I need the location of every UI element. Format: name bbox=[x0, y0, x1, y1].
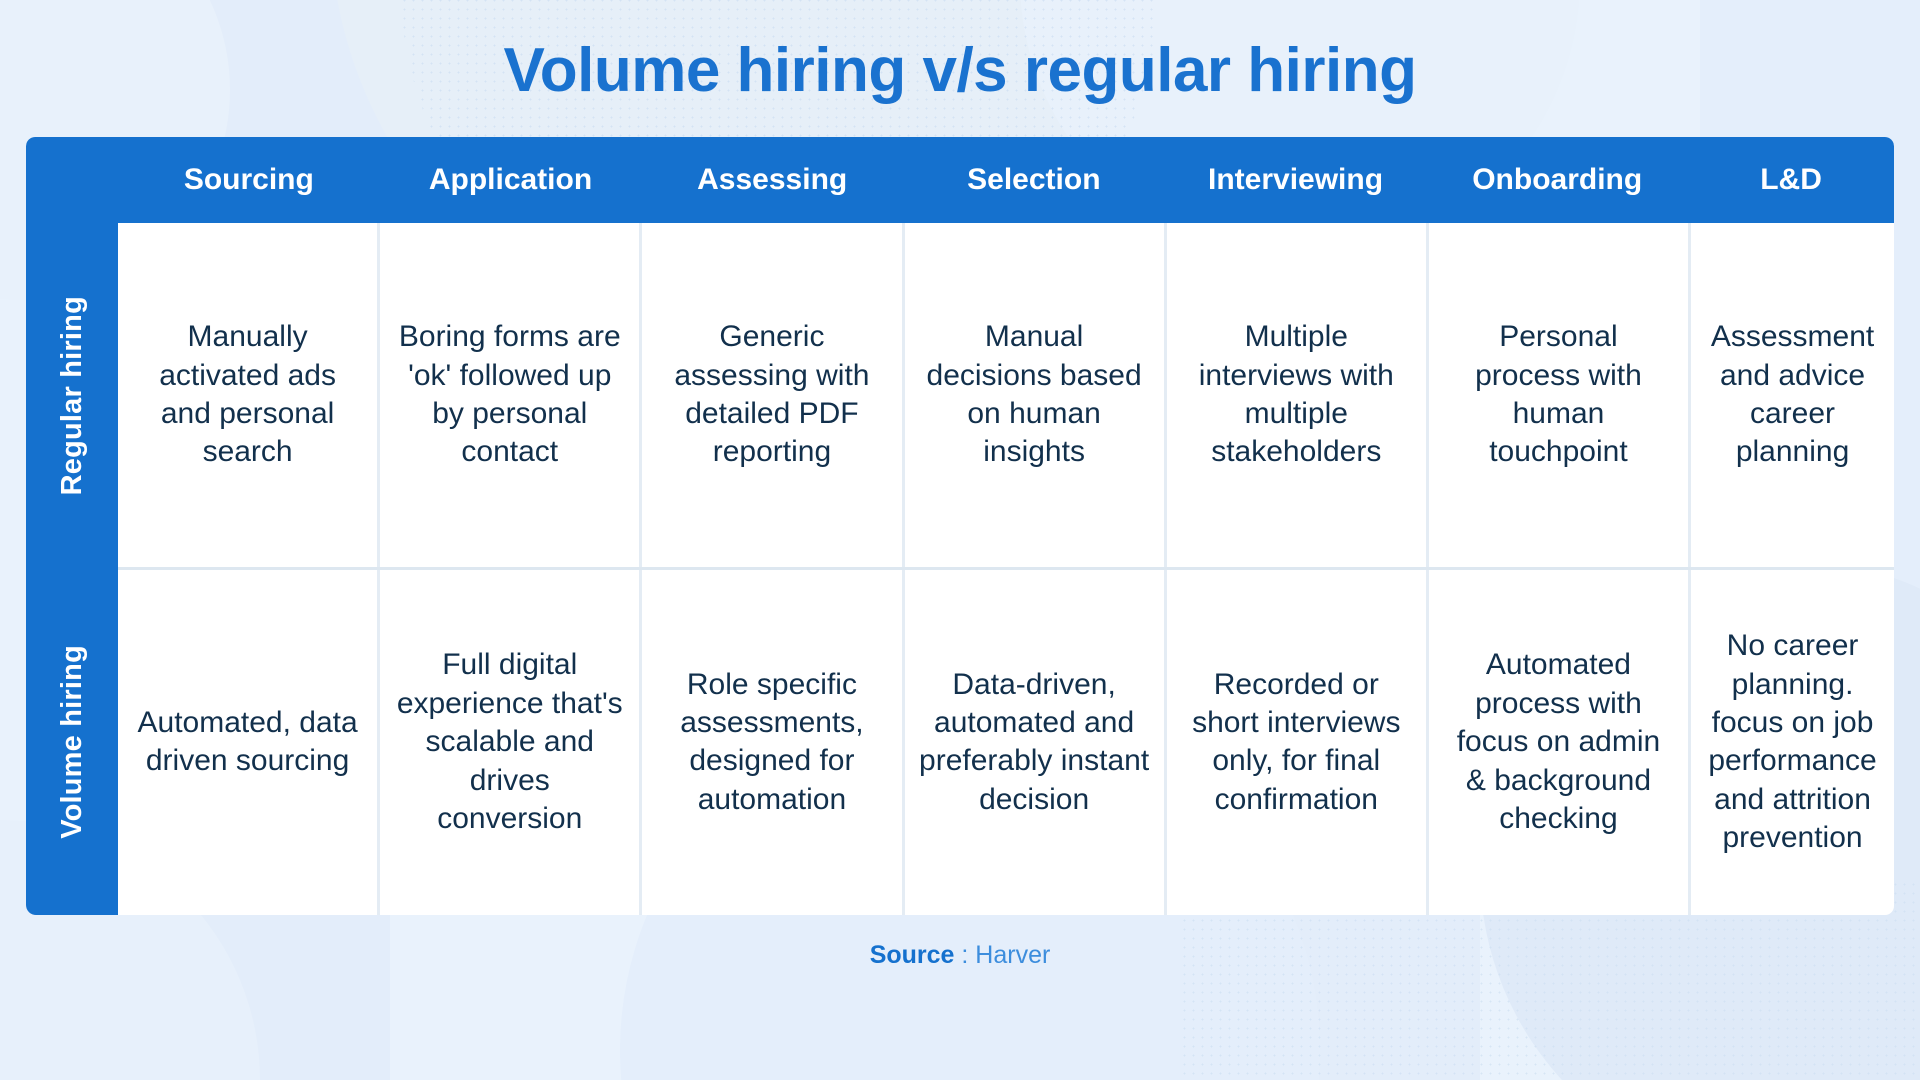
column-header-interviewing: Interviewing bbox=[1165, 137, 1427, 223]
cell-volume-sourcing: Automated, data driven sourcing bbox=[118, 570, 377, 915]
cell-volume-interviewing: Recorded or short interviews only, for f… bbox=[1164, 570, 1426, 915]
column-header-application: Application bbox=[380, 137, 642, 223]
source-value: Harver bbox=[975, 941, 1050, 969]
cell-regular-sourcing: Manually activated ads and personal sear… bbox=[118, 223, 377, 567]
table-body: Regular hiring Volume hiring Manually ac… bbox=[26, 223, 1894, 915]
row-label-regular-hiring: Regular hiring bbox=[26, 223, 118, 569]
cell-regular-l-and-d: Assessment and advice career planning bbox=[1688, 223, 1894, 567]
source-label: Source bbox=[870, 941, 955, 969]
cell-regular-selection: Manual decisions based on human insights bbox=[902, 223, 1164, 567]
page-root: Volume hiring v/s regular hiring Sourcin… bbox=[0, 0, 1920, 1080]
source-separator: : bbox=[954, 941, 975, 969]
row-label-volume-hiring: Volume hiring bbox=[26, 569, 118, 915]
table-row-regular-hiring: Manually activated ads and personal sear… bbox=[118, 223, 1894, 567]
source-line: Source : Harver bbox=[870, 941, 1051, 970]
cell-regular-onboarding: Personal process with human touchpoint bbox=[1426, 223, 1688, 567]
column-header-sourcing: Sourcing bbox=[118, 137, 380, 223]
cell-volume-application: Full digital experience that's scalable … bbox=[377, 570, 639, 915]
table-corner-cell bbox=[26, 137, 118, 223]
page-title: Volume hiring v/s regular hiring bbox=[503, 38, 1416, 105]
row-label-regular-hiring-text: Regular hiring bbox=[56, 296, 89, 495]
row-label-volume-hiring-text: Volume hiring bbox=[56, 645, 89, 839]
cell-volume-l-and-d: No career planning. focus on job perform… bbox=[1688, 570, 1894, 915]
row-label-column: Regular hiring Volume hiring bbox=[26, 223, 118, 915]
table-row-volume-hiring: Automated, data driven sourcing Full dig… bbox=[118, 567, 1894, 915]
cell-volume-onboarding: Automated process with focus on admin & … bbox=[1426, 570, 1688, 915]
cell-regular-application: Boring forms are 'ok' followed up by per… bbox=[377, 223, 639, 567]
cell-regular-assessing: Generic assessing with detailed PDF repo… bbox=[639, 223, 901, 567]
comparison-table: Sourcing Application Assessing Selection… bbox=[26, 137, 1894, 915]
column-header-assessing: Assessing bbox=[641, 137, 903, 223]
table-grid: Manually activated ads and personal sear… bbox=[118, 223, 1894, 915]
table-header-row: Sourcing Application Assessing Selection… bbox=[26, 137, 1894, 223]
cell-volume-assessing: Role specific assessments, designed for … bbox=[639, 570, 901, 915]
column-header-l-and-d: L&D bbox=[1688, 137, 1894, 223]
cell-volume-selection: Data-driven, automated and preferably in… bbox=[902, 570, 1164, 915]
column-header-onboarding: Onboarding bbox=[1426, 137, 1688, 223]
column-header-selection: Selection bbox=[903, 137, 1165, 223]
cell-regular-interviewing: Multiple interviews with multiple stakeh… bbox=[1164, 223, 1426, 567]
